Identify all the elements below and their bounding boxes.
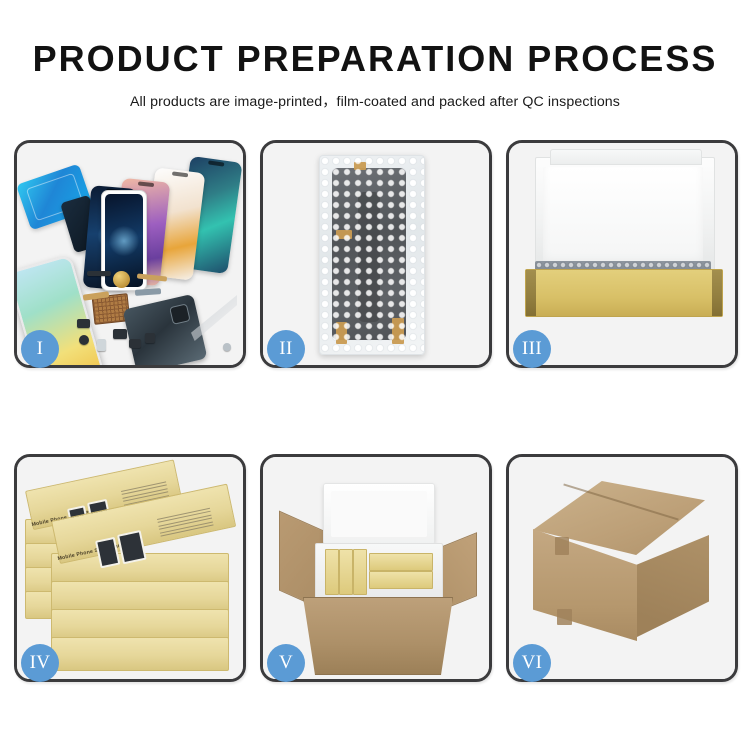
step-3-image: [509, 143, 735, 365]
process-step-grid: I II III: [14, 140, 738, 682]
step-5-image: [263, 457, 489, 679]
bubble-wrap-bag: [319, 155, 425, 355]
step-2-image: [263, 143, 489, 365]
foam-lid: [323, 483, 435, 545]
tape-strip: [336, 322, 347, 344]
small-part: [87, 271, 111, 276]
gold-component: [113, 271, 130, 288]
packed-yellow-box: [369, 553, 433, 571]
step-badge-6: VI: [513, 644, 551, 682]
packed-yellow-box: [325, 549, 339, 595]
wrapped-lcd-screen: [332, 168, 406, 340]
carton-side-face: [633, 535, 709, 639]
page-title: PRODUCT PREPARATION PROCESS: [0, 41, 750, 77]
step-6-image: [509, 457, 735, 679]
process-step-panel-3[interactable]: III: [506, 140, 738, 368]
step-badge-4: IV: [21, 644, 59, 682]
packed-yellow-box: [369, 571, 433, 589]
small-part: [79, 335, 89, 345]
kraft-box-base: [525, 269, 723, 317]
packed-yellow-box: [353, 549, 367, 595]
small-part: [129, 339, 141, 348]
carton-front-wall: [303, 597, 453, 675]
step-badge-3: III: [513, 330, 551, 368]
phone-notch: [172, 171, 188, 177]
flex-cable: [135, 288, 161, 296]
process-step-panel-1[interactable]: I: [14, 140, 246, 368]
small-part: [145, 333, 155, 343]
carton-tape-patch: [555, 537, 569, 555]
small-part: [223, 343, 231, 351]
phone-notch: [208, 160, 224, 166]
page-header: PRODUCT PREPARATION PROCESS All products…: [0, 0, 750, 111]
step-badge-5: V: [267, 644, 305, 682]
step-badge-2: II: [267, 330, 305, 368]
process-step-panel-6[interactable]: VI: [506, 454, 738, 682]
phone-back-housing: [122, 294, 207, 365]
page-subtitle: All products are image-printed，film-coat…: [0, 91, 750, 111]
small-part: [113, 329, 127, 339]
foam-sheet: [543, 167, 703, 267]
step-1-image: [17, 143, 243, 365]
small-part: [77, 319, 90, 328]
process-step-panel-2[interactable]: II: [260, 140, 492, 368]
step-badge-1: I: [21, 330, 59, 368]
step-4-image: Mobile Phone Spare Parts Mobile Phone Sp…: [17, 457, 243, 679]
process-step-panel-4[interactable]: Mobile Phone Spare Parts Mobile Phone Sp…: [14, 454, 246, 682]
phone-notch: [138, 181, 154, 187]
tape-strip: [392, 318, 404, 344]
tape-strip: [336, 230, 352, 239]
tape-strip: [354, 162, 366, 170]
packed-yellow-box: [339, 549, 353, 595]
page-root: PRODUCT PREPARATION PROCESS All products…: [0, 0, 750, 750]
process-step-panel-5[interactable]: V: [260, 454, 492, 682]
carton-tape-patch: [557, 609, 572, 625]
retail-box: [51, 637, 229, 671]
small-part: [97, 339, 106, 351]
